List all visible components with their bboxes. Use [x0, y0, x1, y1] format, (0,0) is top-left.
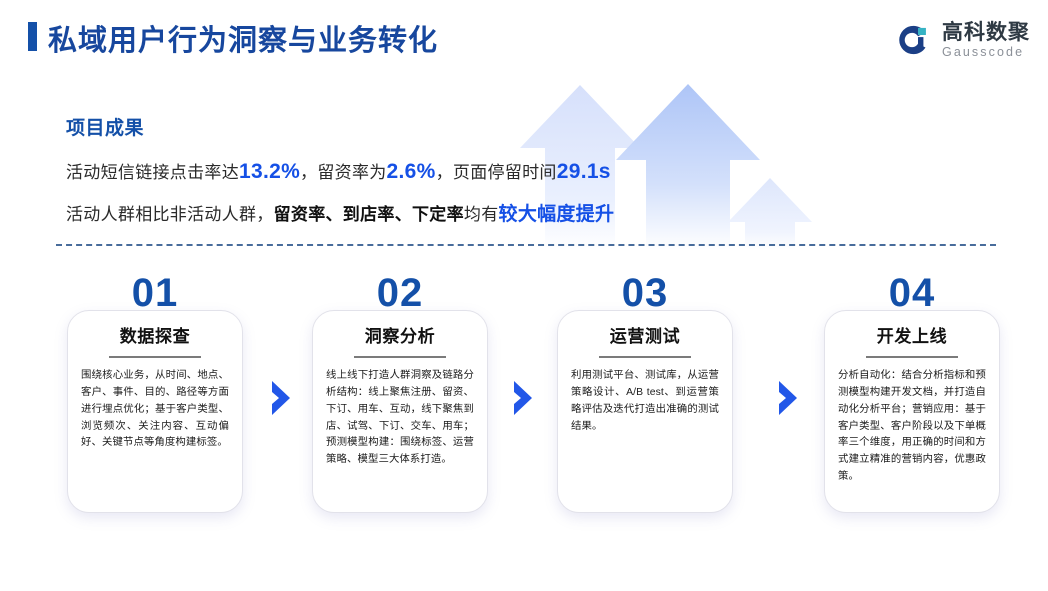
section-divider	[56, 244, 996, 246]
step-number-04: 04	[824, 273, 1000, 313]
page-title: 私域用户行为洞察与业务转化	[48, 17, 438, 59]
chevron-right-icon-1	[268, 378, 296, 418]
title-accent-bar	[28, 22, 37, 51]
logo-text: 高科数聚 Gausscode	[942, 22, 1030, 59]
metric-ctr-value: 13.2%	[239, 160, 300, 183]
step-card-body-01: 数据探查 围绕核心业务，从时间、地点、客户、事件、目的、路径等方面进行埋点优化；…	[67, 310, 243, 513]
decorative-arrow-center	[616, 84, 760, 250]
result-line-metrics: 活动短信链接点击率达13.2%，留资率为2.6%，页面停留时间29.1s	[66, 158, 611, 184]
step-title-03: 运营测试	[558, 322, 732, 347]
metric-lead-label: ，留资率为	[300, 163, 387, 182]
slide-root: 私域用户行为洞察与业务转化 高科数聚 Gausscode 项目成果 活动短信链接…	[0, 0, 1048, 591]
decorative-arrow-right	[728, 178, 812, 250]
step-number-01: 01	[67, 273, 243, 313]
step-rule-01	[109, 356, 201, 358]
step-rule-03	[599, 356, 691, 358]
logo-name-en: Gausscode	[942, 46, 1030, 59]
chevron-right-icon-3	[775, 378, 803, 418]
step-card-body-02: 洞察分析 线上线下打造人群洞察及链路分析结构：线上聚焦注册、留资、下订、用车、互…	[312, 310, 488, 513]
chevron-right-icon-2	[510, 378, 538, 418]
comparison-metrics: 留资率、到店率、下定率	[274, 205, 464, 224]
metric-lead-value: 2.6%	[387, 160, 436, 183]
gausscode-logo-icon	[893, 20, 933, 60]
step-rule-02	[354, 356, 446, 358]
step-card-body-03: 运营测试 利用测试平台、测试库，从运营策略设计、A/B test、到运营策略评估…	[557, 310, 733, 513]
step-title-02: 洞察分析	[313, 322, 487, 347]
step-description-03: 利用测试平台、测试库，从运营策略设计、A/B test、到运营策略评估及迭代打造…	[571, 368, 719, 435]
result-line-comparison: 活动人群相比非活动人群，留资率、到店率、下定率均有较大幅度提升	[66, 199, 614, 226]
metric-ctr-label: 活动短信链接点击率达	[66, 163, 239, 182]
step-rule-04	[866, 356, 958, 358]
metric-dwell-label: ，页面停留时间	[436, 163, 557, 182]
step-title-04: 开发上线	[825, 322, 999, 347]
step-card-body-04: 开发上线 分析自动化：结合分析指标和预测模型构建开发文档，并打造自动化分析平台；…	[824, 310, 1000, 513]
comparison-prefix: 活动人群相比非活动人群，	[66, 205, 274, 224]
step-description-02: 线上线下打造人群洞察及链路分析结构：线上聚焦注册、留资、下订、用车、互动，线下聚…	[326, 368, 474, 469]
step-number-02: 02	[312, 273, 488, 313]
logo-name-cn: 高科数聚	[942, 22, 1030, 43]
step-description-04: 分析自动化：结合分析指标和预测模型构建开发文档，并打造自动化分析平台；营销应用：…	[838, 368, 986, 486]
results-section-title: 项目成果	[66, 113, 144, 140]
step-number-03: 03	[557, 273, 733, 313]
brand-logo: 高科数聚 Gausscode	[893, 20, 1030, 60]
comparison-highlight: 较大幅度提升	[499, 204, 615, 225]
slide-header: 私域用户行为洞察与业务转化 高科数聚 Gausscode	[0, 0, 1048, 82]
step-title-01: 数据探查	[68, 322, 242, 347]
metric-dwell-value: 29.1s	[557, 160, 611, 183]
comparison-middle: 均有	[464, 205, 499, 224]
step-description-01: 围绕核心业务，从时间、地点、客户、事件、目的、路径等方面进行埋点优化；基于客户类…	[81, 368, 229, 452]
